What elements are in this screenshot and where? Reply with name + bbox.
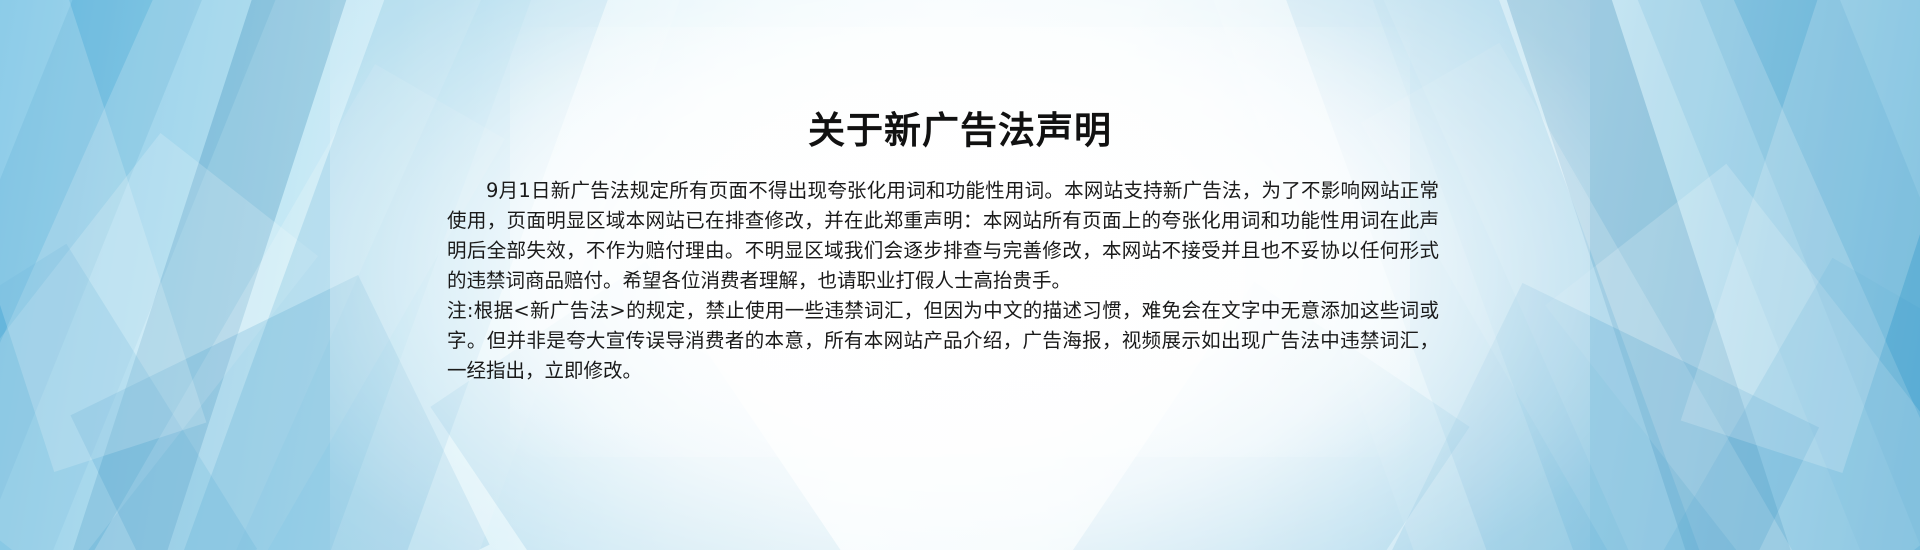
page-title: 关于新广告法声明 [0,111,1920,152]
advertising-law-statement-banner: 关于新广告法声明 9月1日新广告法规定所有页面不得出现夸张化用词和功能性用词。本… [0,0,1920,550]
banner-content: 关于新广告法声明 9月1日新广告法规定所有页面不得出现夸张化用词和功能性用词。本… [0,0,1920,550]
statement-paragraph-main: 9月1日新广告法规定所有页面不得出现夸张化用词和功能性用词。本网站支持新广告法，… [447,176,1439,296]
statement-body: 9月1日新广告法规定所有页面不得出现夸张化用词和功能性用词。本网站支持新广告法，… [447,176,1439,386]
statement-paragraph-note: 注:根据<新广告法>的规定，禁止使用一些违禁词汇，但因为中文的描述习惯，难免会在… [447,296,1439,386]
